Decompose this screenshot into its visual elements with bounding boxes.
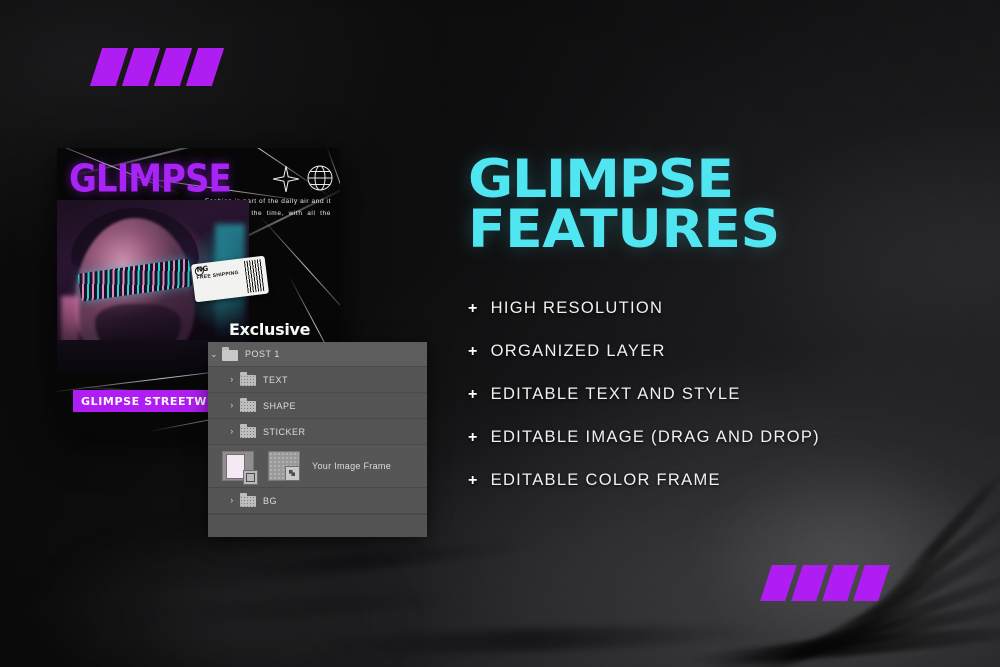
- features-heading: GLIMPSE FEATURES: [468, 155, 957, 255]
- plus-icon: +: [468, 429, 479, 447]
- features-list: + HIGH RESOLUTION + ORGANIZED LAYER + ED…: [468, 299, 938, 490]
- chevron-bar: [791, 565, 828, 601]
- layer-label: STICKER: [263, 427, 306, 437]
- layer-label: TEXT: [263, 375, 288, 385]
- layer-label: POST 1: [245, 349, 280, 359]
- feature-item-editable-text-and-style: + EDITABLE TEXT AND STYLE: [468, 385, 938, 404]
- barcode-icon: [244, 259, 266, 293]
- layer-label: BG: [263, 496, 277, 506]
- plus-icon: +: [468, 343, 479, 361]
- poster-title: GLIMPSE: [69, 160, 231, 198]
- plus-icon: +: [468, 386, 479, 404]
- features-heading-line2: FEATURES: [468, 205, 957, 255]
- feature-label: HIGH RESOLUTION: [491, 299, 664, 318]
- smart-object-badge-icon: [285, 466, 300, 481]
- features-section: GLIMPSE FEATURES + HIGH RESOLUTION + ORG…: [468, 155, 938, 514]
- folder-icon: [240, 425, 256, 438]
- poster-exclusive-label: Exclusive: [229, 320, 310, 339]
- feature-label: EDITABLE TEXT AND STYLE: [491, 385, 741, 404]
- feature-item-editable-image: + EDITABLE IMAGE (DRAG AND DROP): [468, 428, 938, 447]
- plus-icon: +: [468, 472, 479, 490]
- folder-icon: [222, 348, 238, 361]
- twirl-closed-icon[interactable]: ›: [226, 496, 238, 505]
- layer-row-post-1[interactable]: ⌄ POST 1: [208, 342, 427, 367]
- layer-row-sticker[interactable]: › STICKER: [208, 419, 427, 445]
- chevron-bar: [822, 565, 859, 601]
- layer-row-shape[interactable]: › SHAPE: [208, 393, 427, 419]
- plus-icon: +: [468, 300, 479, 318]
- layers-panel-footer: [208, 514, 427, 537]
- screenshot-stage: GLIMPSE Fashion is part of the daily air…: [0, 0, 1000, 667]
- folder-icon: [240, 494, 256, 507]
- feature-item-editable-color-frame: + EDITABLE COLOR FRAME: [468, 471, 938, 490]
- price-tag-sticker: NG FREE SHIPPING: [191, 256, 269, 303]
- layer-row-your-image-frame[interactable]: Your Image Frame: [208, 445, 427, 488]
- layer-mask-thumbnail[interactable]: [243, 470, 258, 485]
- layer-row-bg[interactable]: › BG: [208, 488, 427, 514]
- wireframe-globe-icon: [306, 164, 334, 192]
- twirl-closed-icon[interactable]: ›: [226, 427, 238, 436]
- chevron-stripes-top: [96, 48, 218, 86]
- feature-item-high-resolution: + HIGH RESOLUTION: [468, 299, 938, 318]
- feature-label: EDITABLE COLOR FRAME: [491, 471, 721, 490]
- twirl-open-icon[interactable]: ⌄: [208, 350, 220, 359]
- twirl-closed-icon[interactable]: ›: [226, 401, 238, 410]
- layer-label: Your Image Frame: [312, 461, 391, 471]
- layer-row-text[interactable]: › TEXT: [208, 367, 427, 393]
- layers-panel[interactable]: ⌄ POST 1 › TEXT › SHAPE › STICKER: [208, 342, 427, 537]
- four-point-star-icon: [273, 166, 299, 192]
- chevron-stripes-bottom: [766, 565, 884, 601]
- feature-label: EDITABLE IMAGE (DRAG AND DROP): [491, 428, 820, 447]
- layer-label: SHAPE: [263, 401, 296, 411]
- feature-label: ORGANIZED LAYER: [491, 342, 666, 361]
- twirl-closed-icon[interactable]: ›: [226, 375, 238, 384]
- layer-thumbnail[interactable]: [222, 451, 254, 481]
- chevron-bar: [760, 565, 797, 601]
- feature-item-organized-layer: + ORGANIZED LAYER: [468, 342, 938, 361]
- folder-icon: [240, 373, 256, 386]
- folder-icon: [240, 399, 256, 412]
- smart-object-thumbnail[interactable]: [268, 451, 300, 481]
